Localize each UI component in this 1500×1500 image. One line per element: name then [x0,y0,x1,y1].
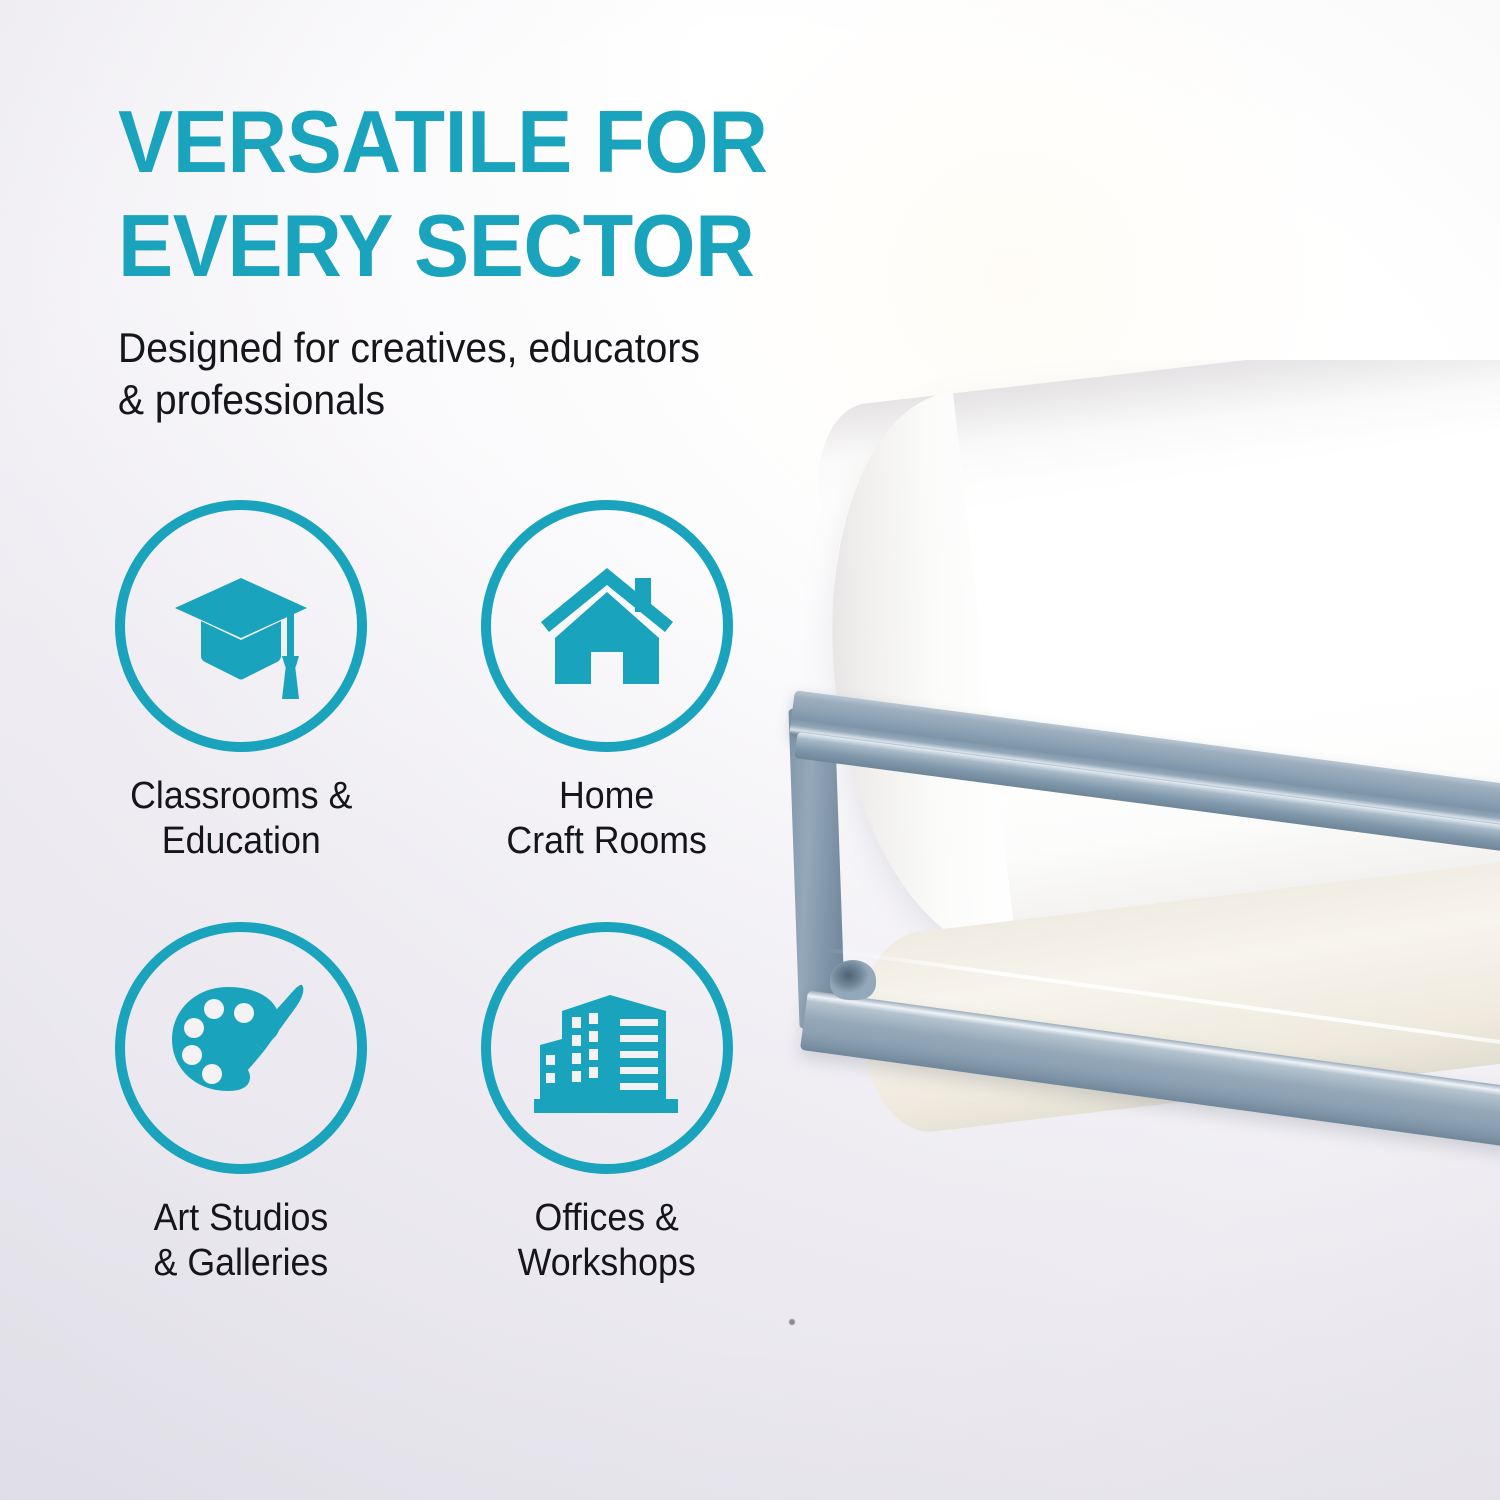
paint-palette-brush-icon [166,973,316,1123]
feature-label: Home Craft Rooms [507,774,707,864]
feature-label-line-1: Art Studios [154,1196,329,1241]
feature-label: Offices & Workshops [518,1196,696,1286]
feature-icon-ring [481,500,733,752]
feature-item-classrooms-education: Classrooms & Education [112,500,370,864]
product-photo [700,360,1500,1360]
feature-label-line-1: Classrooms & [130,774,352,819]
feature-label-line-1: Home [507,774,707,819]
feature-label-line-2: Workshops [518,1241,696,1286]
graduation-cap-icon [167,552,315,700]
feature-item-home-craft-rooms: Home Craft Rooms [478,500,736,864]
subheadline-line-2: & professionals [118,374,825,426]
headline-line-1: VERSATILE FOR [118,90,851,194]
cutter-pivot-knob [830,960,876,1000]
subheadline-line-1: Designed for creatives, educators [118,322,825,374]
headline-line-2: EVERY SECTOR [118,194,851,298]
photo-dust-speck [789,1319,795,1325]
headline: VERSATILE FOR EVERY SECTOR [118,90,898,298]
feature-label-line-1: Offices & [518,1196,696,1241]
feature-icon-ring [481,922,733,1174]
feature-label: Classrooms & Education [130,774,352,864]
feature-grid: Classrooms & Education [112,500,732,1286]
feature-icon-ring [115,922,367,1174]
house-icon [537,556,677,696]
feature-icon-ring [115,500,367,752]
feature-label-line-2: Craft Rooms [507,819,707,864]
feature-item-offices-workshops: Offices & Workshops [478,922,736,1286]
feature-item-art-studios-galleries: Art Studios & Galleries [112,922,370,1286]
subheadline: Designed for creatives, educators & prof… [118,322,825,426]
feature-label-line-2: Education [130,819,352,864]
office-building-icon [532,973,682,1123]
feature-label-line-2: & Galleries [154,1241,329,1286]
infographic-canvas: VERSATILE FOR EVERY SECTOR Designed for … [0,0,1500,1500]
feature-label: Art Studios & Galleries [154,1196,329,1286]
